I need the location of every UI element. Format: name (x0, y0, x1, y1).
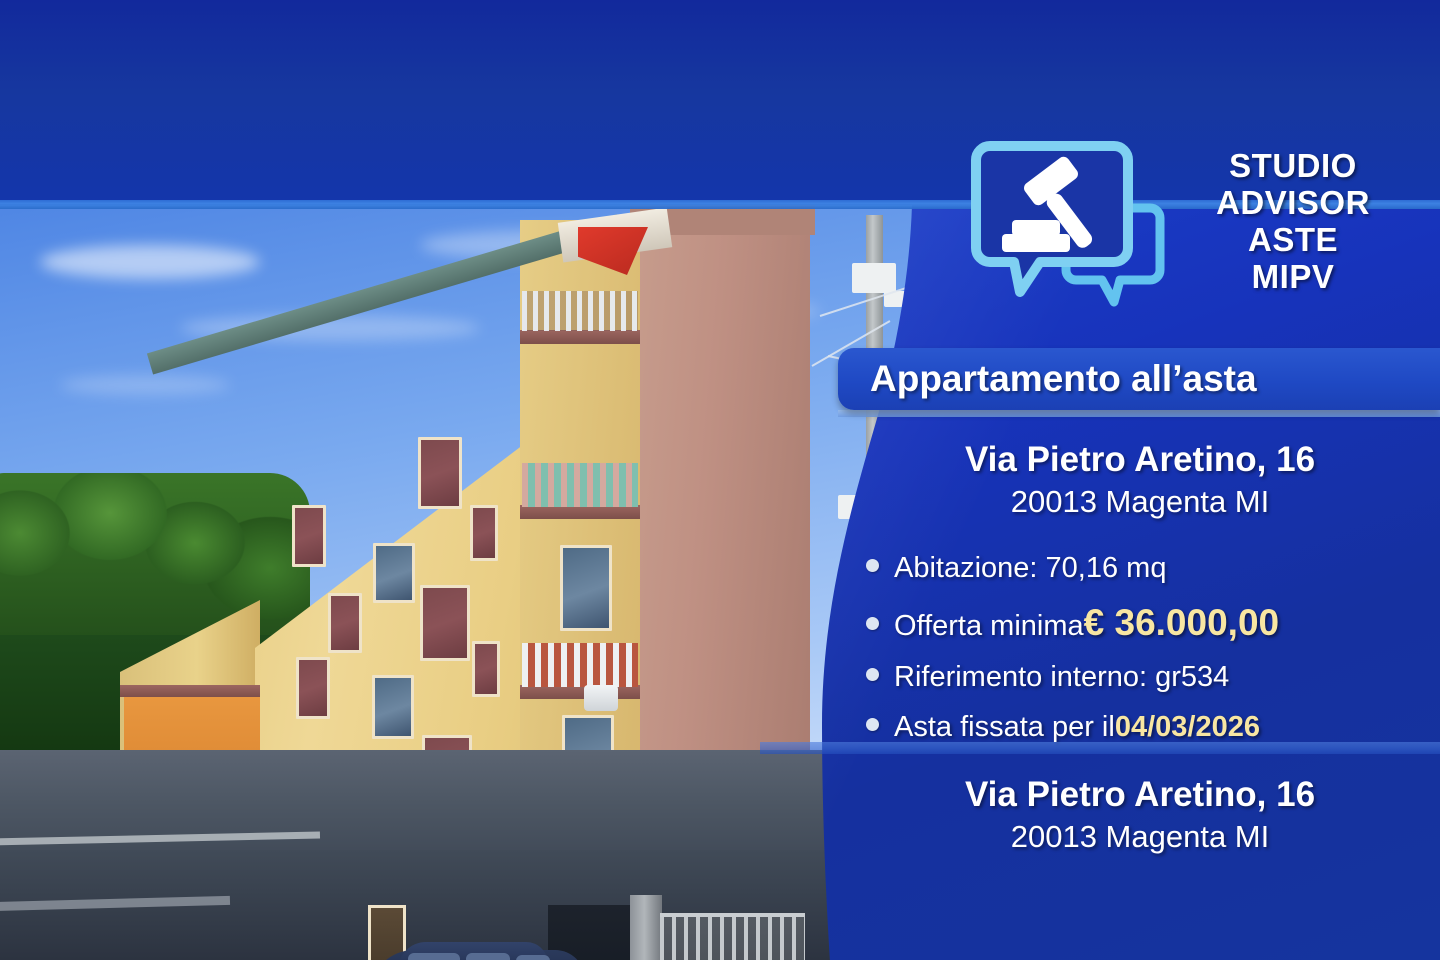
air-conditioner (584, 685, 618, 711)
car-window (516, 955, 550, 960)
address-top-street: Via Pietro Aretino, 16 (850, 440, 1430, 480)
logo-line-4: MIPV (1168, 259, 1418, 296)
list-item: Offerta minima € 36.000,00 (866, 602, 1440, 644)
pole-box (852, 263, 896, 293)
balcony (520, 505, 640, 519)
address-bottom: Via Pietro Aretino, 16 20013 Magenta MI (850, 775, 1430, 855)
balcony-door (560, 545, 612, 631)
ribbon-underline (838, 410, 1440, 417)
auction-poster: Appartamento all’asta Via Pietro Aretino… (0, 0, 1440, 960)
gate-pillar (630, 895, 662, 960)
list-item: Abitazione: 70,16 mq (866, 552, 1440, 585)
balcony-rail (522, 463, 638, 507)
car-window (408, 953, 460, 960)
address-top: Via Pietro Aretino, 16 20013 Magenta MI (850, 440, 1430, 520)
bullet-dot-icon (866, 559, 879, 572)
window (373, 543, 415, 603)
detail-min-offer-value: € 36.000,00 (1084, 602, 1279, 644)
list-item: Asta fissata per il 04/03/2026 (866, 711, 1440, 744)
window (372, 675, 414, 739)
cloud (60, 375, 230, 395)
window (470, 505, 498, 561)
window (420, 585, 470, 661)
window (292, 505, 326, 567)
balcony (520, 685, 640, 699)
address-bottom-street: Via Pietro Aretino, 16 (850, 775, 1430, 815)
logo-line-3: ASTE (1168, 222, 1418, 259)
cloud (40, 245, 260, 279)
bullet-dot-icon (866, 718, 879, 731)
detail-date-value: 04/03/2026 (1115, 711, 1260, 744)
address-bottom-city: 20013 Magenta MI (850, 819, 1430, 855)
detail-min-offer-label: Offerta minima (894, 610, 1084, 643)
bullet-dot-icon (866, 668, 879, 681)
detail-size: Abitazione: 70,16 mq (894, 552, 1166, 585)
property-details-list: Abitazione: 70,16 mq Offerta minima € 36… (866, 552, 1440, 761)
metal-gate (660, 913, 805, 960)
window (472, 641, 500, 697)
car-window (466, 953, 510, 960)
panel-divider (760, 742, 1440, 754)
property-type-ribbon: Appartamento all’asta (838, 348, 1440, 410)
detail-date-label: Asta fissata per il (894, 711, 1115, 744)
logo-line-2: ADVISOR (1168, 185, 1418, 222)
window (328, 593, 362, 653)
property-type-label: Appartamento all’asta (870, 358, 1257, 400)
logo-line-1: STUDIO (1168, 148, 1418, 185)
address-top-city: 20013 Magenta MI (850, 484, 1430, 520)
balcony-rail (522, 291, 638, 331)
logo-wordmark: STUDIO ADVISOR ASTE MIPV (1168, 148, 1418, 296)
gavel-chat-bubble-logo (968, 138, 1168, 323)
window (418, 437, 462, 509)
balcony (120, 685, 260, 697)
window (296, 657, 330, 719)
logo-svg (968, 138, 1168, 323)
list-item: Riferimento interno: gr534 (866, 661, 1440, 694)
balcony (520, 330, 640, 344)
balcony-rail (522, 643, 638, 687)
detail-reference: Riferimento interno: gr534 (894, 661, 1229, 694)
bullet-dot-icon (866, 617, 879, 630)
